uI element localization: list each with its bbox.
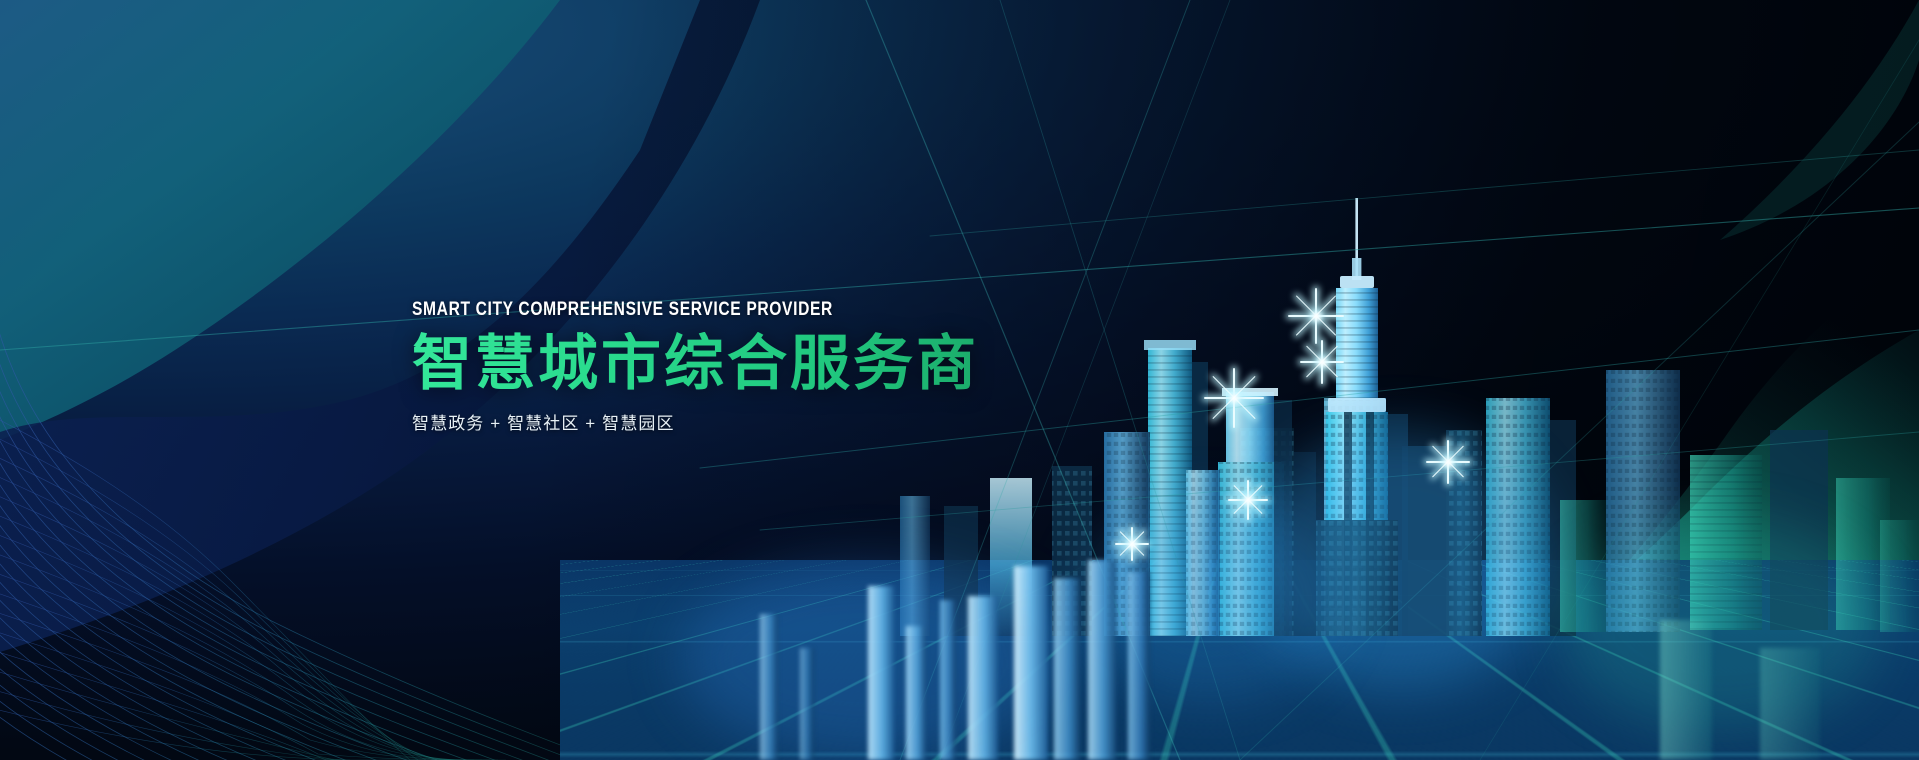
foreground-slab — [1014, 566, 1048, 760]
foreground-slab — [1054, 578, 1080, 760]
foreground-slab — [1088, 560, 1116, 760]
lens-flare-star — [1204, 368, 1264, 428]
foreground-slab — [800, 648, 814, 760]
foreground-slab — [940, 600, 956, 760]
hero-banner: SMART CITY COMPREHENSIVE SERVICE PROVIDE… — [0, 0, 1919, 760]
lens-flare-star — [1228, 480, 1268, 520]
lens-flare-star — [1288, 288, 1344, 344]
foreground-slab — [1128, 572, 1150, 760]
foreground-slab — [906, 626, 926, 760]
lens-flare-star — [1115, 527, 1149, 561]
eyebrow-text: SMART CITY COMPREHENSIVE SERVICE PROVIDE… — [412, 300, 1020, 320]
subtitle-text: 智慧政务 + 智慧社区 + 智慧园区 — [412, 409, 1172, 434]
foreground-slab — [760, 614, 778, 760]
foreground-slab — [868, 586, 894, 760]
hero-copy: SMART CITY COMPREHENSIVE SERVICE PROVIDE… — [412, 300, 1172, 434]
page-title: 智慧城市综合服务商 — [412, 332, 1172, 396]
lens-flare-star — [1300, 340, 1344, 384]
lens-flare-star — [1426, 440, 1470, 484]
foreground-slab — [968, 596, 998, 760]
foreground-slab — [1660, 620, 1712, 760]
foreground-slab — [1760, 648, 1820, 760]
city-glow-right — [1560, 520, 1880, 730]
